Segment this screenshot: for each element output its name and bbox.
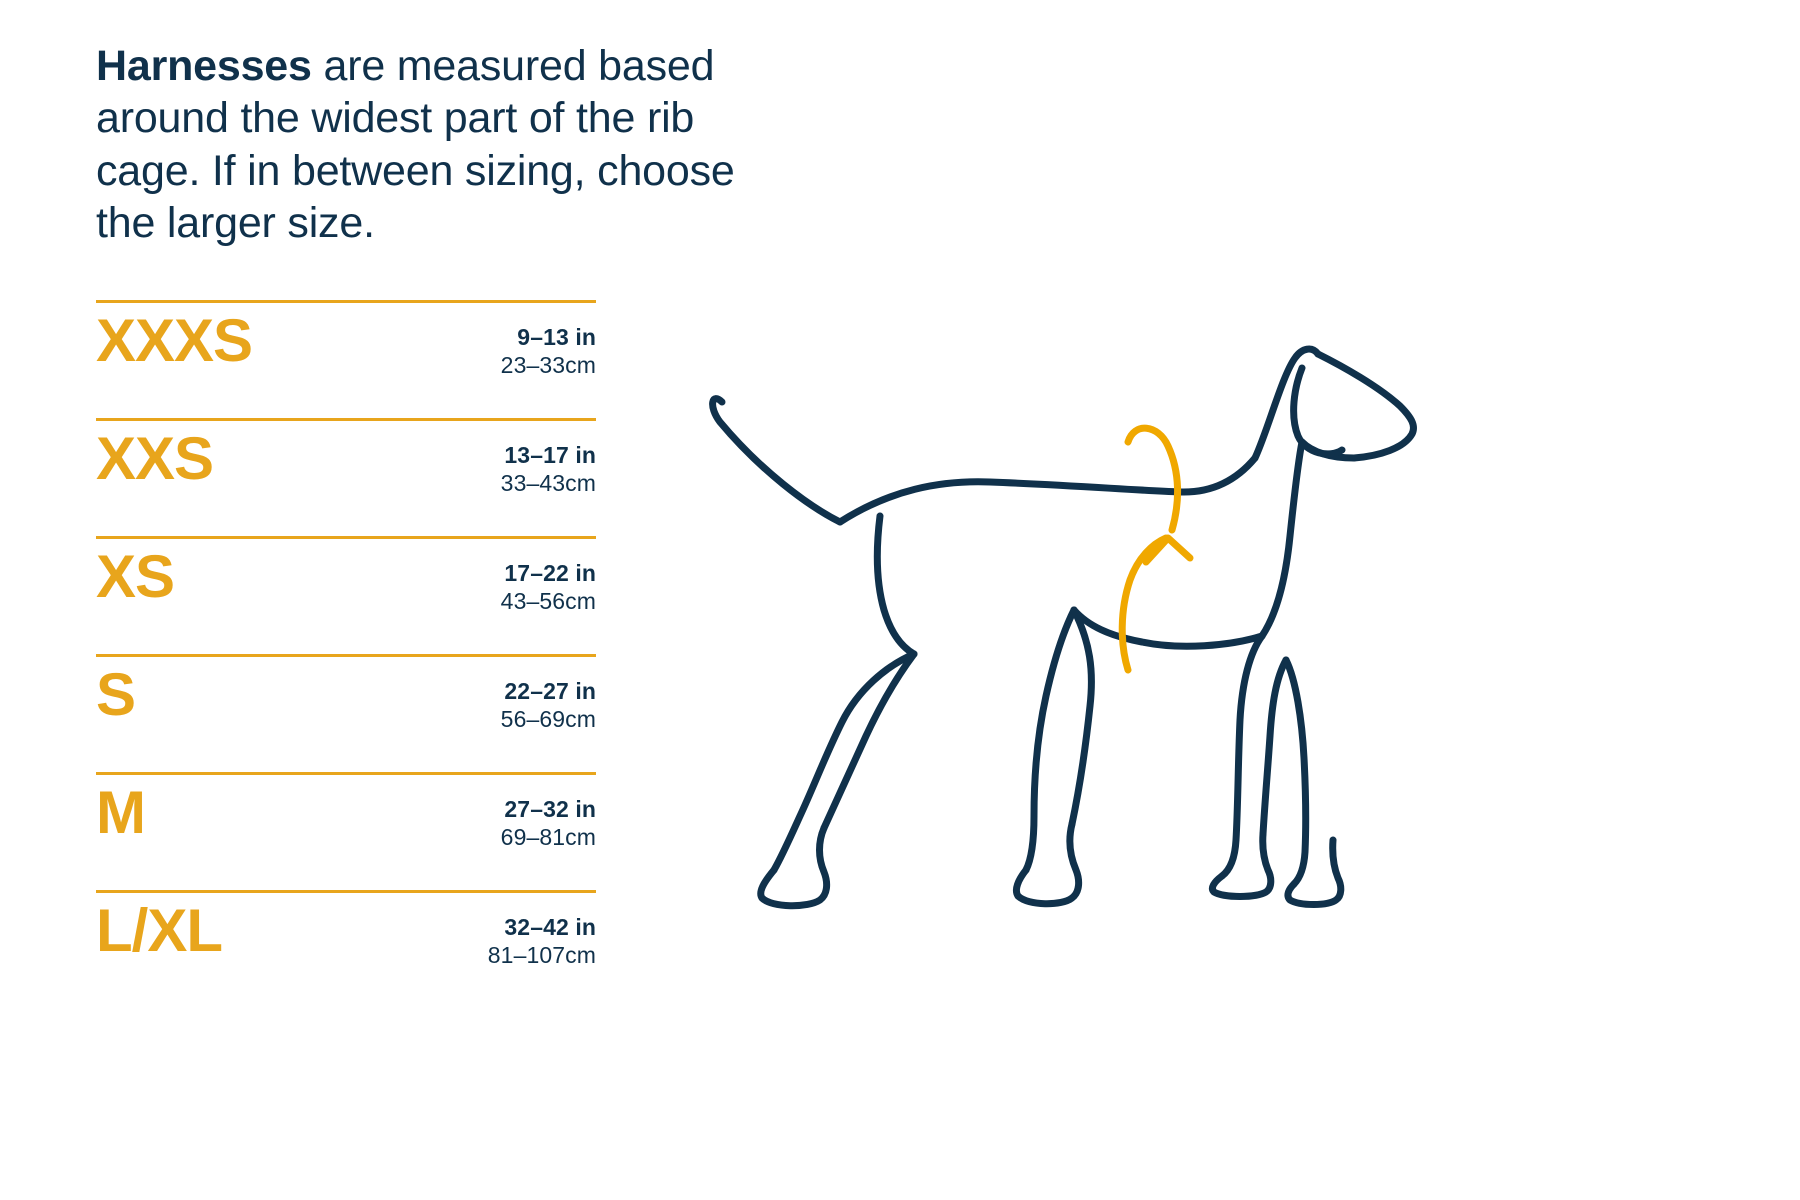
size-inches: 22–27 in	[504, 678, 596, 704]
size-measurements: 17–22 in 43–56cm	[501, 545, 596, 615]
size-measurements: 22–27 in 56–69cm	[501, 663, 596, 733]
size-inches: 9–13 in	[517, 324, 596, 350]
size-centimeters: 43–56cm	[501, 588, 596, 614]
table-row: S 22–27 in 56–69cm	[96, 654, 596, 772]
table-row: L/XL 32–42 in 81–107cm	[96, 890, 596, 1008]
size-inches: 17–22 in	[504, 560, 596, 586]
size-inches: 27–32 in	[504, 796, 596, 822]
table-row: XS 17–22 in 43–56cm	[96, 536, 596, 654]
size-guide-page: Harnesses are measured based around the …	[0, 0, 1800, 1200]
size-centimeters: 56–69cm	[501, 706, 596, 732]
intro-lead: Harnesses	[96, 42, 312, 90]
size-measurements: 13–17 in 33–43cm	[501, 427, 596, 497]
size-centimeters: 23–33cm	[501, 352, 596, 378]
size-label: XXXS	[96, 309, 252, 372]
size-measurements: 27–32 in 69–81cm	[501, 781, 596, 851]
dog-illustration	[690, 330, 1490, 950]
size-label: XXS	[96, 427, 213, 490]
size-label: XS	[96, 545, 174, 608]
intro-block: Harnesses are measured based around the …	[96, 40, 796, 250]
size-label: S	[96, 663, 135, 726]
size-centimeters: 33–43cm	[501, 470, 596, 496]
size-label: L/XL	[96, 899, 222, 962]
size-centimeters: 81–107cm	[488, 942, 596, 968]
size-table: XXXS 9–13 in 23–33cm XXS 13–17 in 33–43c…	[96, 300, 596, 1008]
size-label: M	[96, 781, 145, 844]
table-row: XXS 13–17 in 33–43cm	[96, 418, 596, 536]
size-centimeters: 69–81cm	[501, 824, 596, 850]
size-measurements: 9–13 in 23–33cm	[501, 309, 596, 379]
size-inches: 13–17 in	[504, 442, 596, 468]
table-row: M 27–32 in 69–81cm	[96, 772, 596, 890]
girth-measurement-arrow-icon	[1122, 428, 1190, 670]
table-row: XXXS 9–13 in 23–33cm	[96, 300, 596, 418]
dog-outline-icon	[690, 330, 1490, 950]
size-measurements: 32–42 in 81–107cm	[488, 899, 596, 969]
intro-paragraph: Harnesses are measured based around the …	[96, 40, 786, 250]
size-inches: 32–42 in	[504, 914, 596, 940]
